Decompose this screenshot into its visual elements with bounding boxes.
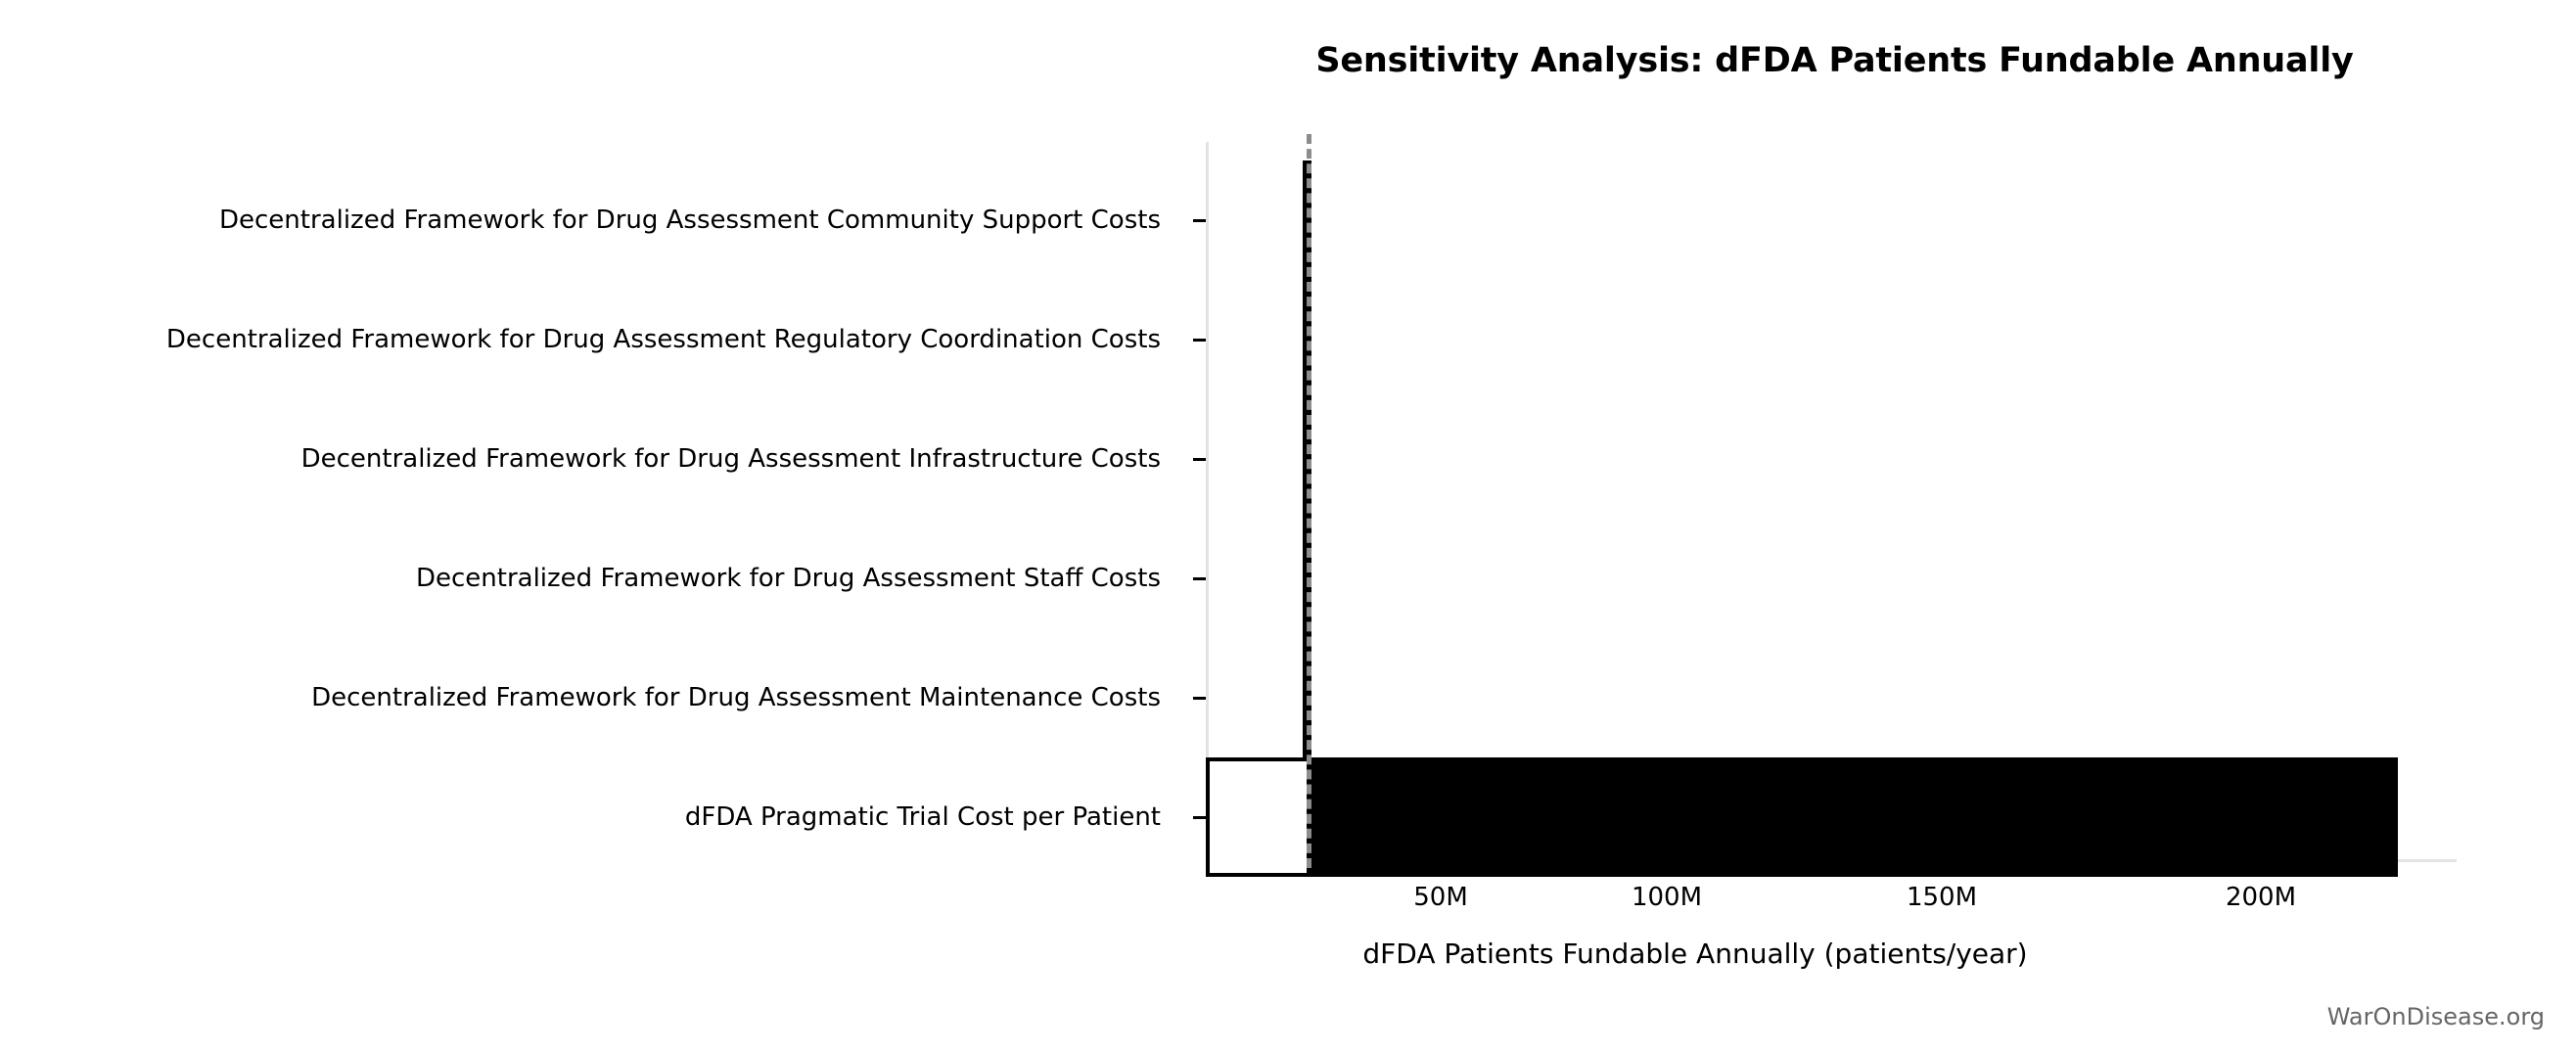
y-axis-label-2: Decentralized Framework for Drug Assessm… [0, 446, 1161, 472]
bar-row[interactable] [1206, 638, 2457, 757]
y-axis-label-3: Decentralized Framework for Drug Assessm… [0, 566, 1161, 591]
bar-row[interactable] [1206, 519, 2457, 638]
bar-segment-high[interactable] [1307, 757, 2398, 877]
bar-segment-low[interactable] [1206, 757, 1309, 877]
y-axis-label-0: Decentralized Framework for Drug Assessm… [0, 207, 1161, 233]
x-tick-mark-0 [1440, 861, 1443, 875]
y-tick-mark-3 [1193, 577, 1206, 580]
y-tick-mark-0 [1193, 219, 1206, 222]
y-axis-labels: Decentralized Framework for Drug Assessm… [0, 142, 1190, 861]
x-tick-label-3: 200M [2226, 883, 2296, 912]
y-tick-mark-5 [1193, 816, 1206, 819]
x-tick-label-0: 50M [1413, 883, 1468, 912]
baseline-reference-line [1307, 134, 1311, 868]
bar-row[interactable] [1206, 757, 2457, 877]
sensitivity-chart-figure: Sensitivity Analysis: dFDA Patients Fund… [0, 0, 2576, 1052]
watermark-text: WarOnDisease.org [2327, 1003, 2545, 1030]
chart-title: Sensitivity Analysis: dFDA Patients Fund… [1206, 41, 2463, 80]
bar-row[interactable] [1206, 160, 2457, 280]
x-tick-label-2: 150M [1907, 883, 1977, 912]
x-tick-mark-3 [2260, 861, 2263, 875]
bar-row[interactable] [1206, 280, 2457, 399]
x-tick-label-1: 100M [1632, 883, 1702, 912]
plot-area [1206, 142, 2457, 861]
x-axis-title: dFDA Patients Fundable Annually (patient… [1206, 938, 2185, 970]
y-tick-mark-2 [1193, 458, 1206, 461]
y-tick-mark-1 [1193, 339, 1206, 342]
y-axis-label-1: Decentralized Framework for Drug Assessm… [0, 327, 1161, 352]
y-axis-label-4: Decentralized Framework for Drug Assessm… [0, 685, 1161, 710]
x-tick-mark-1 [1666, 861, 1669, 875]
bar-row[interactable] [1206, 399, 2457, 519]
y-tick-mark-4 [1193, 697, 1206, 700]
y-axis-label-5: dFDA Pragmatic Trial Cost per Patient [0, 804, 1161, 830]
x-tick-mark-2 [1941, 861, 1944, 875]
